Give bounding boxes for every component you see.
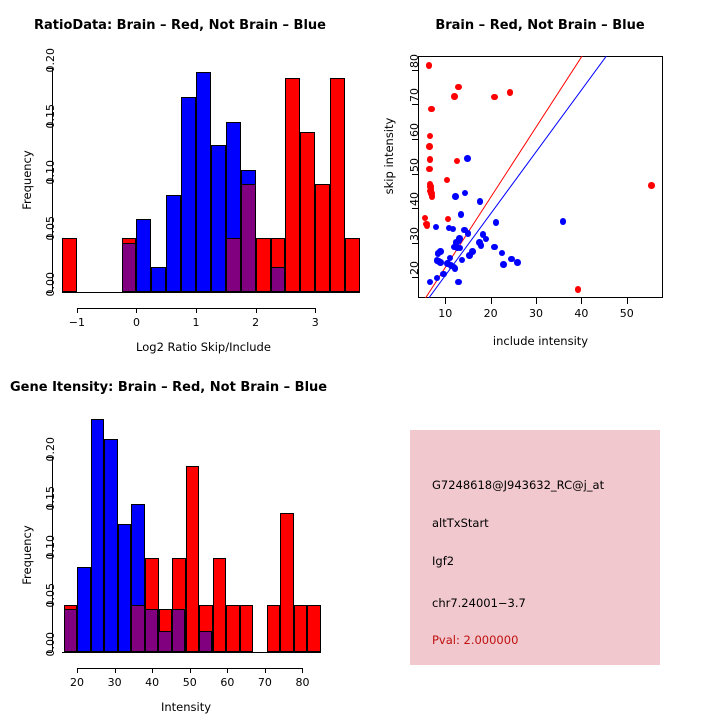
- x-tick: [265, 668, 266, 673]
- scatter-point: [440, 271, 447, 278]
- figure-canvas: RatioData: Brain – Red, Not Brain – Blue…: [0, 0, 720, 720]
- scatter-point: [459, 257, 466, 264]
- scatter-point: [427, 156, 434, 163]
- histogram-bar-overlap: [145, 609, 159, 652]
- histogram-bar: [104, 439, 118, 652]
- histogram-bar: [267, 605, 281, 652]
- x-tick: [227, 668, 228, 673]
- scatter-point: [450, 226, 457, 233]
- histogram-bar-overlap: [271, 267, 286, 292]
- x-tick-label: 0: [116, 316, 156, 329]
- y-tick-label: 0.05: [44, 583, 57, 623]
- scatter-point: [455, 279, 462, 286]
- histogram-bar: [181, 97, 196, 292]
- scatter-point: [435, 250, 442, 257]
- scatter-point: [426, 143, 433, 150]
- histogram-bar-overlap: [64, 609, 78, 652]
- panel-ratio-plotarea: 0.000.050.100.150.20Frequency−10123Log2 …: [0, 0, 360, 360]
- histogram-bar: [226, 605, 240, 652]
- histogram-bar: [196, 72, 211, 292]
- baseline: [62, 652, 321, 653]
- y-axis-title: skip intensity: [382, 96, 396, 216]
- scatter-point: [444, 177, 451, 184]
- histogram-bar-overlap: [158, 631, 172, 652]
- histogram-bar-overlap: [131, 605, 145, 652]
- scatter-point: [428, 106, 435, 113]
- y-axis-title: Frequency: [20, 120, 34, 240]
- x-tick: [491, 298, 492, 304]
- histogram-bar: [136, 219, 151, 292]
- x-tick-label: 10: [425, 307, 465, 320]
- y-tick-label: 0.20: [44, 48, 57, 88]
- histogram-bar-overlap: [241, 184, 256, 292]
- scatter-point: [491, 244, 498, 251]
- panel-intensity-scatter: Brain – Red, Not Brain – Blue 2030405060…: [360, 0, 720, 360]
- histogram-bar: [300, 132, 315, 292]
- scatter-point: [434, 275, 441, 282]
- scatter-point: [462, 190, 469, 197]
- annotation-pvalue: Pval: 2.000000: [432, 633, 518, 647]
- x-tick-label: 30: [95, 676, 135, 689]
- panel-gene-histogram: Gene Itensity: Brain – Red, Not Brain – …: [0, 360, 360, 720]
- scatter-point: [500, 261, 507, 268]
- histogram-bar-overlap: [199, 631, 213, 652]
- x-tick: [256, 308, 257, 313]
- histogram-bar: [118, 524, 132, 652]
- scatter-point: [469, 248, 476, 255]
- x-tick-label: 1: [176, 316, 216, 329]
- histogram-bar-overlap: [226, 238, 241, 292]
- scatter-point: [464, 155, 471, 162]
- panel-ratio-histogram: RatioData: Brain – Red, Not Brain – Blue…: [0, 0, 360, 360]
- y-tick-label: 70: [408, 88, 421, 118]
- x-tick: [627, 298, 628, 304]
- scatter-point: [433, 224, 440, 231]
- scatter-point: [560, 218, 567, 225]
- histogram-bar: [77, 567, 91, 652]
- histogram-bar: [166, 195, 181, 292]
- x-tick-label: 70: [245, 676, 285, 689]
- y-axis-title: Frequency: [20, 495, 34, 615]
- annotation-event-type: altTxStart: [432, 516, 489, 530]
- histogram-bar: [62, 238, 77, 292]
- scatter-point: [437, 259, 444, 266]
- scatter-point: [491, 94, 498, 101]
- x-tick: [315, 308, 316, 313]
- y-tick-label: 0.15: [44, 486, 57, 526]
- scatter-point: [477, 198, 484, 205]
- x-tick: [302, 668, 303, 673]
- scatter-point: [424, 223, 431, 230]
- y-tick-label: 30: [408, 227, 421, 257]
- y-tick-label: 0.00: [44, 632, 57, 672]
- scatter-point: [452, 265, 459, 272]
- y-tick-label: 0.20: [44, 437, 57, 477]
- histogram-bar: [345, 238, 360, 292]
- x-tick-label: 50: [170, 676, 210, 689]
- scatter-point: [465, 230, 472, 237]
- scatter-point: [452, 193, 459, 200]
- scatter-point: [429, 193, 436, 200]
- y-tick-label: 0.10: [44, 160, 57, 200]
- histogram-bar: [315, 184, 330, 292]
- scatter-point: [447, 255, 454, 262]
- y-tick-label: 0.00: [44, 272, 57, 312]
- scatter-point: [575, 286, 582, 293]
- scatter-point: [455, 84, 462, 91]
- scatter-point: [478, 242, 485, 249]
- x-axis-title: Log2 Ratio Skip/Include: [62, 340, 345, 354]
- scatter-point: [454, 158, 461, 165]
- scatter-point: [445, 216, 452, 223]
- annotation-probe-id: G7248618@J943632_RC@j_at: [432, 478, 604, 492]
- x-tick-label: 40: [561, 307, 601, 320]
- histogram-bar: [211, 145, 226, 292]
- x-tick: [196, 308, 197, 313]
- panel-gene-annotation: G7248618@J943632_RC@j_at altTxStart Igf2…: [410, 430, 660, 665]
- scatter-clip: [418, 56, 663, 298]
- histogram-bar: [213, 558, 227, 652]
- y-tick-label: 50: [408, 158, 421, 188]
- scatter-point: [499, 250, 506, 257]
- x-tick-label: 40: [132, 676, 172, 689]
- x-tick: [152, 668, 153, 673]
- baseline: [62, 292, 360, 293]
- x-tick: [115, 668, 116, 673]
- scatter-point: [426, 166, 433, 173]
- y-tick-label: 80: [408, 54, 421, 84]
- x-tick-label: 20: [57, 676, 97, 689]
- scatter-point: [458, 211, 465, 218]
- y-tick-label: 40: [408, 192, 421, 222]
- x-axis-title: include intensity: [418, 334, 663, 348]
- histogram-bar: [294, 605, 308, 652]
- histogram-bar: [307, 605, 321, 652]
- y-tick-label: 60: [408, 123, 421, 153]
- annotation-genomic-location: chr7.24001−3.7: [432, 596, 526, 610]
- histogram-bar: [91, 419, 105, 652]
- scatter-point: [427, 133, 434, 140]
- histogram-bar: [240, 605, 254, 652]
- histogram-bar: [151, 267, 166, 292]
- annotation-gene-symbol: Igf2: [432, 554, 454, 568]
- x-axis-title: Intensity: [62, 700, 310, 714]
- histogram-bar: [330, 78, 345, 292]
- x-tick: [77, 308, 78, 313]
- histogram-bar-overlap: [122, 243, 137, 292]
- scatter-point: [514, 259, 521, 266]
- x-tick: [536, 298, 537, 304]
- x-tick-label: 30: [516, 307, 556, 320]
- y-tick-label: 20: [408, 261, 421, 291]
- x-tick-label: 50: [607, 307, 647, 320]
- y-tick-label: 0.10: [44, 535, 57, 575]
- histogram-bar: [186, 466, 200, 652]
- x-tick: [77, 668, 78, 673]
- x-tick-label: 2: [236, 316, 276, 329]
- x-tick-label: 80: [282, 676, 322, 689]
- scatter-point: [426, 62, 433, 69]
- scatter-point: [648, 182, 655, 189]
- x-tick: [445, 298, 446, 304]
- panel-gene-plotarea: 0.000.050.100.150.20Frequency20304050607…: [0, 360, 360, 720]
- scatter-point: [483, 236, 490, 243]
- histogram-bar: [285, 78, 300, 292]
- x-tick-label: 20: [471, 307, 511, 320]
- histogram-bar: [280, 513, 294, 652]
- x-tick-label: −1: [57, 316, 97, 329]
- x-tick: [581, 298, 582, 304]
- panel-scatter-plotarea: 20304050607080skip intensity1020304050in…: [360, 0, 720, 360]
- histogram-bar-overlap: [172, 609, 186, 652]
- x-tick-label: 3: [295, 316, 335, 329]
- histogram-bar: [256, 238, 271, 292]
- scatter-point: [451, 93, 458, 100]
- y-tick-label: 0.05: [44, 216, 57, 256]
- x-tick-label: 60: [207, 676, 247, 689]
- scatter-point: [427, 279, 434, 286]
- x-tick: [136, 308, 137, 313]
- y-tick-label: 0.15: [44, 104, 57, 144]
- x-tick: [190, 668, 191, 673]
- scatter-point: [507, 89, 514, 96]
- scatter-point: [493, 219, 500, 226]
